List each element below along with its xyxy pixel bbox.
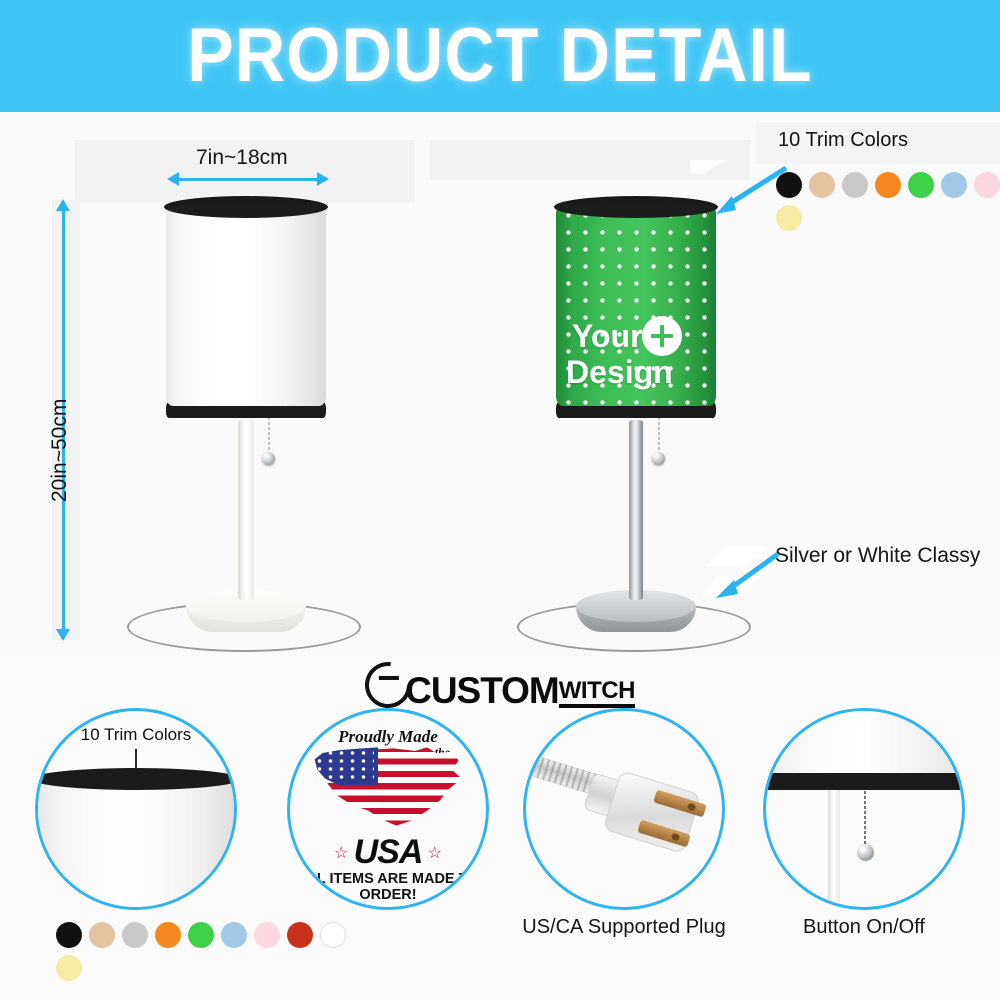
- trim-swatch-brick-red[interactable]: [287, 922, 313, 948]
- design-text-line2: Design: [566, 356, 673, 388]
- pull-chain-bead-closeup[interactable]: [857, 844, 874, 861]
- usa-badge-top-text: Proudly Made: [290, 727, 486, 747]
- product-detail-page: PRODUCT DETAIL 7in~18cm 20in~50cm: [0, 0, 1000, 1000]
- usa-flag-stars: [314, 749, 374, 781]
- logo-sub-text: WITCH: [559, 679, 635, 708]
- switch-caption: Button On/Off: [748, 916, 980, 939]
- lamp-shade-green: Your Design: [556, 204, 716, 406]
- feature-made-in-usa: Proudly Made in the ☆ USA ☆ ALL ITEMS AR…: [272, 708, 504, 910]
- usa-badge-usa-text: USA: [290, 833, 486, 872]
- plus-circle-icon[interactable]: [642, 316, 682, 356]
- pull-chain-bead[interactable]: [652, 452, 665, 465]
- trim-swatch-tan[interactable]: [89, 922, 115, 948]
- usa-badge-note-text: ALL ITEMS ARE MADE TO ORDER!: [290, 871, 486, 903]
- logo-main-text: CUSTOM: [405, 673, 559, 708]
- trim-color-swatches-bottom-row2[interactable]: [56, 955, 82, 981]
- design-text-line1: Your: [572, 320, 643, 352]
- shade-trim-closeup: [35, 768, 237, 790]
- feature-plug: US/CA Supported Plug: [508, 708, 740, 910]
- base-finish-pointer-arrow: [700, 540, 810, 618]
- product-stage: 7in~18cm 20in~50cm: [0, 112, 1000, 657]
- trim-swatch-light-gray[interactable]: [842, 172, 868, 198]
- lamp-stem-white: [238, 420, 254, 600]
- trim-swatch-white[interactable]: [320, 922, 346, 948]
- feature-trim-colors: 10 Trim Colors: [20, 708, 252, 910]
- trim-swatch-orange[interactable]: [155, 922, 181, 948]
- shade-top-trim: [164, 196, 328, 218]
- trim-swatch-pink[interactable]: [974, 172, 1000, 198]
- trim-swatch-green[interactable]: [188, 922, 214, 948]
- trim-swatch-pink[interactable]: [254, 922, 280, 948]
- plug-circle: [523, 708, 725, 910]
- width-dimension-label: 7in~18cm: [196, 146, 288, 170]
- trim-color-swatches-row1[interactable]: [776, 172, 1000, 198]
- trim-swatch-light-blue[interactable]: [941, 172, 967, 198]
- lamp-stem-closeup: [828, 790, 840, 910]
- trim-swatch-orange[interactable]: [875, 172, 901, 198]
- feature-row: 10 Trim Colors Proudly Made in the ☆ USA: [0, 706, 1000, 1000]
- trim-colors-circle: 10 Trim Colors: [35, 708, 237, 910]
- width-dimension-arrow: [178, 178, 318, 181]
- pull-chain-bead[interactable]: [262, 452, 275, 465]
- shade-trim-closeup: [763, 773, 965, 790]
- trim-swatch-tan[interactable]: [809, 172, 835, 198]
- trim-swatch-light-blue[interactable]: [221, 922, 247, 948]
- star-right-icon: ☆: [428, 843, 442, 863]
- made-in-usa-circle: Proudly Made in the ☆ USA ☆ ALL ITEMS AR…: [287, 708, 489, 910]
- height-dimension-label: 20in~50cm: [48, 399, 72, 502]
- lamp-shade-white: [166, 204, 326, 406]
- trim-colors-label: 10 Trim Colors: [778, 129, 908, 152]
- plug-caption: US/CA Supported Plug: [508, 916, 740, 939]
- pull-chain: [658, 412, 660, 456]
- trim-swatch-green[interactable]: [908, 172, 934, 198]
- trim-swatch-light-gray[interactable]: [122, 922, 148, 948]
- lamp-stem-silver: [629, 420, 643, 600]
- shade-closeup: [35, 779, 237, 909]
- trim-swatch-black[interactable]: [56, 922, 82, 948]
- trim-colors-circle-label: 10 Trim Colors: [38, 725, 234, 745]
- trim-swatch-yellow[interactable]: [56, 955, 82, 981]
- header-banner: PRODUCT DETAIL: [0, 0, 1000, 112]
- trim-color-swatches-bottom-row1[interactable]: [56, 922, 346, 948]
- pull-chain-closeup: [864, 791, 866, 846]
- trim-arrow-icon: [135, 749, 137, 769]
- page-title: PRODUCT DETAIL: [187, 18, 812, 94]
- feature-switch: Button On/Off: [748, 708, 980, 910]
- pull-chain: [268, 412, 270, 456]
- trim-colors-pointer-arrow: [690, 160, 800, 220]
- switch-circle: [763, 708, 965, 910]
- shade-closeup: [763, 708, 965, 775]
